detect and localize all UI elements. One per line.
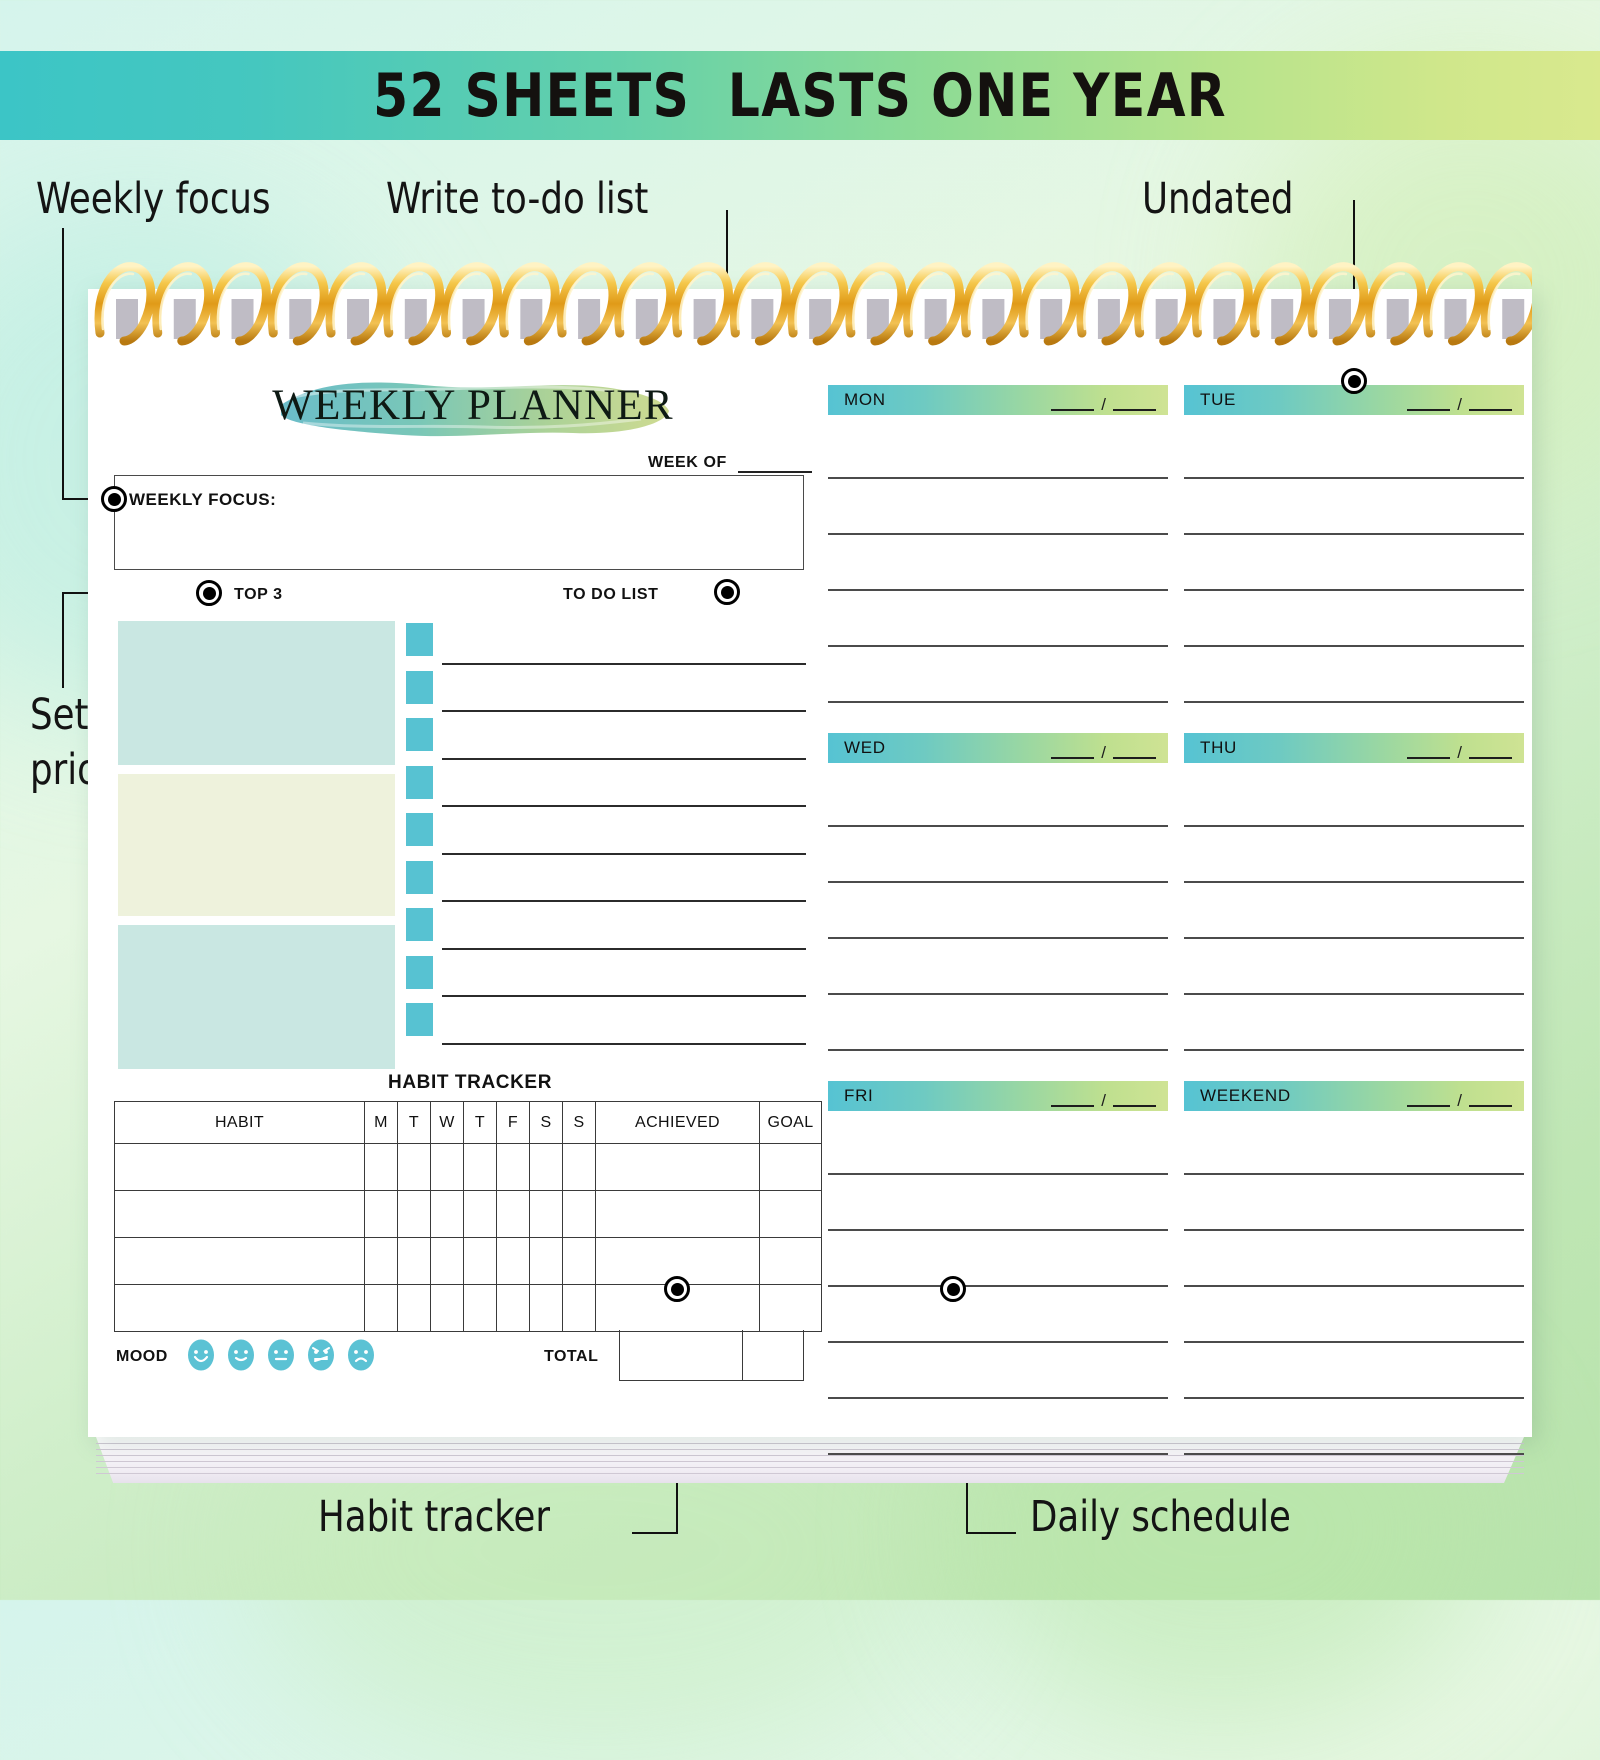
- day-write-line[interactable]: [1184, 1175, 1524, 1231]
- day-block-fri: FRI/: [828, 1081, 1168, 1455]
- habit-tracker-label: HABIT TRACKER: [388, 1072, 552, 1094]
- day-write-line[interactable]: [1184, 1399, 1524, 1455]
- day-write-line[interactable]: [1184, 591, 1524, 647]
- promo-banner: 52 SHEETS LASTS ONE YEAR: [0, 51, 1600, 140]
- habit-cell[interactable]: [398, 1285, 431, 1332]
- habit-col-header-t-2: T: [398, 1102, 431, 1144]
- todo-write-line[interactable]: [442, 805, 806, 807]
- leader-line-daily-h: [968, 1532, 1016, 1534]
- day-date-blanks[interactable]: /: [1051, 399, 1156, 411]
- day-write-line[interactable]: [1184, 827, 1524, 883]
- table-row[interactable]: [115, 1238, 822, 1285]
- habit-cell[interactable]: [365, 1285, 398, 1332]
- day-write-line[interactable]: [828, 423, 1168, 479]
- mood-label: MOOD: [116, 1348, 168, 1366]
- date-blank-day[interactable]: [1469, 1105, 1512, 1107]
- date-blank-month[interactable]: [1051, 409, 1094, 411]
- habit-cell[interactable]: [760, 1285, 822, 1332]
- habit-cell[interactable]: [115, 1285, 365, 1332]
- habit-cell[interactable]: [365, 1238, 398, 1285]
- todo-row[interactable]: [406, 714, 806, 762]
- day-write-line[interactable]: [1184, 647, 1524, 703]
- day-write-line[interactable]: [828, 771, 1168, 827]
- day-header: MON/: [828, 385, 1168, 415]
- day-date-blanks[interactable]: /: [1051, 747, 1156, 759]
- habit-cell[interactable]: [760, 1238, 822, 1285]
- priority-box-2[interactable]: [118, 774, 395, 916]
- todo-checkbox[interactable]: [406, 623, 433, 656]
- day-write-line[interactable]: [1184, 995, 1524, 1051]
- habit-col-header-m-1: M: [365, 1102, 398, 1144]
- todo-row[interactable]: [406, 619, 806, 667]
- top3-priority-boxes: [118, 621, 395, 1078]
- day-write-line[interactable]: [828, 1175, 1168, 1231]
- day-write-line[interactable]: [828, 1231, 1168, 1287]
- neutral-face-icon[interactable]: [266, 1338, 296, 1372]
- spiral-binding-icon: [88, 237, 1532, 357]
- habit-cell[interactable]: [431, 1238, 464, 1285]
- day-name-label: TUE: [1200, 390, 1236, 410]
- habit-cell[interactable]: [760, 1144, 822, 1191]
- callout-dot-weekly-focus: [101, 486, 127, 512]
- day-write-line[interactable]: [828, 1343, 1168, 1399]
- day-write-line[interactable]: [828, 479, 1168, 535]
- day-write-line[interactable]: [828, 939, 1168, 995]
- todo-write-line[interactable]: [442, 995, 806, 997]
- day-write-line[interactable]: [1184, 535, 1524, 591]
- total-achieved-cell[interactable]: [620, 1330, 743, 1380]
- habit-cell[interactable]: [497, 1238, 530, 1285]
- day-write-line[interactable]: [1184, 883, 1524, 939]
- habit-cell[interactable]: [115, 1191, 365, 1238]
- habit-cell[interactable]: [530, 1285, 563, 1332]
- day-write-line[interactable]: [1184, 1231, 1524, 1287]
- habit-cell[interactable]: [464, 1285, 497, 1332]
- banner-text: 52 SHEETS LASTS ONE YEAR: [373, 61, 1227, 131]
- day-write-line[interactable]: [1184, 1119, 1524, 1175]
- table-row[interactable]: [115, 1144, 822, 1191]
- priority-box-1[interactable]: [118, 621, 395, 765]
- habit-cell[interactable]: [497, 1285, 530, 1332]
- habit-cell[interactable]: [530, 1191, 563, 1238]
- date-blank-month[interactable]: [1407, 757, 1450, 759]
- habit-cell[interactable]: [563, 1238, 596, 1285]
- leader-line-priorities-v: [62, 592, 64, 688]
- habit-cell[interactable]: [760, 1191, 822, 1238]
- todo-checkbox[interactable]: [406, 718, 433, 751]
- day-write-line[interactable]: [828, 995, 1168, 1051]
- day-name-label: WEEKEND: [1200, 1086, 1291, 1106]
- todo-checkbox[interactable]: [406, 671, 433, 704]
- habit-cell[interactable]: [398, 1191, 431, 1238]
- todo-write-line[interactable]: [442, 663, 806, 665]
- day-lines: [828, 415, 1168, 759]
- todo-row[interactable]: [406, 667, 806, 715]
- habit-col-header-s-6: S: [530, 1102, 563, 1144]
- day-lines: [828, 1111, 1168, 1455]
- habit-cell[interactable]: [596, 1144, 760, 1191]
- day-header: WED/: [828, 733, 1168, 763]
- todo-row[interactable]: [406, 762, 806, 810]
- habit-col-header-t-4: T: [464, 1102, 497, 1144]
- date-separator: /: [1101, 1095, 1106, 1107]
- day-write-line[interactable]: [1184, 1287, 1524, 1343]
- day-write-line[interactable]: [1184, 1343, 1524, 1399]
- day-header: FRI/: [828, 1081, 1168, 1111]
- planner-content: WEEKLY PLANNER WEEK OF WEEKLY FOCUS: TOP…: [88, 289, 1532, 1437]
- habit-cell[interactable]: [431, 1285, 464, 1332]
- week-of-blank[interactable]: [738, 471, 812, 473]
- todo-list: [406, 619, 806, 1047]
- todo-checkbox[interactable]: [406, 813, 433, 846]
- day-name-label: MON: [844, 390, 886, 410]
- total-goal-cell[interactable]: [743, 1330, 803, 1380]
- top3-label: TOP 3: [234, 586, 283, 604]
- date-blank-day[interactable]: [1469, 409, 1512, 411]
- habit-col-header-w-3: W: [431, 1102, 464, 1144]
- sad-face-icon[interactable]: [346, 1338, 376, 1372]
- habit-cell[interactable]: [497, 1144, 530, 1191]
- day-write-line[interactable]: [1184, 423, 1524, 479]
- todo-write-line[interactable]: [442, 900, 806, 902]
- todo-checkbox[interactable]: [406, 956, 433, 989]
- day-lines: [1184, 415, 1524, 759]
- todo-row[interactable]: [406, 952, 806, 1000]
- mood-row: MOOD TOTAL: [114, 1330, 804, 1388]
- callout-dot-todo: [714, 579, 740, 605]
- angry-face-icon[interactable]: [306, 1338, 336, 1372]
- habit-cell[interactable]: [563, 1285, 596, 1332]
- day-write-line[interactable]: [828, 1287, 1168, 1343]
- day-header: THU/: [1184, 733, 1524, 763]
- todo-checkbox[interactable]: [406, 766, 433, 799]
- habit-col-header-f-5: F: [497, 1102, 530, 1144]
- todo-write-line[interactable]: [442, 853, 806, 855]
- habit-cell[interactable]: [398, 1144, 431, 1191]
- habit-tracker-table[interactable]: HABITMTWTFSSACHIEVEDGOAL: [114, 1101, 822, 1332]
- date-separator: /: [1101, 399, 1106, 411]
- day-block-thu: THU/: [1184, 733, 1524, 1107]
- habit-cell[interactable]: [431, 1144, 464, 1191]
- table-row[interactable]: [115, 1191, 822, 1238]
- day-write-line[interactable]: [828, 591, 1168, 647]
- todo-write-line[interactable]: [442, 948, 806, 950]
- page-title: WEEKLY PLANNER: [258, 381, 688, 430]
- todo-row[interactable]: [406, 999, 806, 1047]
- date-blank-month[interactable]: [1407, 409, 1450, 411]
- todo-write-line[interactable]: [442, 710, 806, 712]
- habit-tracker-table-wrap: HABITMTWTFSSACHIEVEDGOAL: [114, 1101, 804, 1332]
- todo-checkbox[interactable]: [406, 861, 433, 894]
- date-blank-day[interactable]: [1469, 757, 1512, 759]
- happy-face-icon[interactable]: [186, 1338, 216, 1372]
- callout-weekly-focus: Weekly focus: [36, 172, 271, 227]
- date-blank-month[interactable]: [1051, 1105, 1094, 1107]
- callout-daily-schedule: Daily schedule: [1030, 1490, 1291, 1545]
- priority-box-3[interactable]: [118, 925, 395, 1069]
- habit-col-header-s-7: S: [563, 1102, 596, 1144]
- day-lines: [1184, 763, 1524, 1107]
- habit-cell[interactable]: [431, 1191, 464, 1238]
- todo-checkbox[interactable]: [406, 908, 433, 941]
- week-of-label: WEEK OF: [648, 454, 727, 472]
- date-blank-day[interactable]: [1113, 757, 1156, 759]
- habit-cell[interactable]: [365, 1144, 398, 1191]
- day-name-label: WED: [844, 738, 886, 758]
- habit-cell[interactable]: [464, 1238, 497, 1285]
- callout-undated: Undated: [1142, 172, 1293, 227]
- habit-cell[interactable]: [115, 1144, 365, 1191]
- leader-line-habit-h: [632, 1532, 678, 1534]
- leader-line-weekly-focus-v: [62, 228, 64, 499]
- day-header: WEEKEND/: [1184, 1081, 1524, 1111]
- todo-write-line[interactable]: [442, 1043, 806, 1045]
- day-write-line[interactable]: [828, 1119, 1168, 1175]
- todo-row[interactable]: [406, 809, 806, 857]
- day-block-wed: WED/: [828, 733, 1168, 1107]
- habit-cell[interactable]: [365, 1191, 398, 1238]
- callout-dot-habit: [664, 1276, 690, 1302]
- smile-face-icon[interactable]: [226, 1338, 256, 1372]
- day-write-line[interactable]: [1184, 479, 1524, 535]
- todo-row[interactable]: [406, 857, 806, 905]
- date-blank-day[interactable]: [1113, 409, 1156, 411]
- weekly-focus-box[interactable]: WEEKLY FOCUS:: [114, 475, 804, 570]
- habit-cell[interactable]: [530, 1238, 563, 1285]
- habit-cell[interactable]: [464, 1144, 497, 1191]
- day-date-blanks[interactable]: /: [1407, 1095, 1512, 1107]
- day-block-tue: TUE/: [1184, 385, 1524, 759]
- day-write-line[interactable]: [828, 883, 1168, 939]
- day-write-line[interactable]: [828, 647, 1168, 703]
- total-cells[interactable]: [619, 1330, 804, 1381]
- day-write-line[interactable]: [828, 827, 1168, 883]
- habit-col-header-goal-9: GOAL: [760, 1102, 822, 1144]
- day-name-label: FRI: [844, 1086, 873, 1106]
- mood-icon-group[interactable]: [186, 1338, 376, 1372]
- day-block-weekend: WEEKEND/: [1184, 1081, 1524, 1455]
- date-blank-month[interactable]: [1407, 1105, 1450, 1107]
- day-write-line[interactable]: [1184, 939, 1524, 995]
- habit-col-header-achieved-8: ACHIEVED: [596, 1102, 760, 1144]
- day-write-line[interactable]: [828, 1399, 1168, 1455]
- habit-col-header-habit-0: HABIT: [115, 1102, 365, 1144]
- todo-list-label: TO DO LIST: [563, 586, 658, 604]
- callout-habit-tracker: Habit tracker: [318, 1490, 550, 1545]
- day-lines: [1184, 1111, 1524, 1455]
- day-date-blanks[interactable]: /: [1051, 1095, 1156, 1107]
- todo-checkbox[interactable]: [406, 1003, 433, 1036]
- callout-dot-daily-schedule: [940, 1276, 966, 1302]
- todo-write-line[interactable]: [442, 758, 806, 760]
- date-blank-day[interactable]: [1113, 1105, 1156, 1107]
- day-name-label: THU: [1200, 738, 1237, 758]
- day-write-line[interactable]: [1184, 771, 1524, 827]
- date-blank-month[interactable]: [1051, 757, 1094, 759]
- habit-cell[interactable]: [530, 1144, 563, 1191]
- habit-cell[interactable]: [497, 1191, 530, 1238]
- callout-write-todo: Write to-do list: [386, 172, 648, 227]
- day-write-line[interactable]: [828, 535, 1168, 591]
- date-separator: /: [1457, 1095, 1462, 1107]
- day-block-mon: MON/: [828, 385, 1168, 759]
- habit-cell[interactable]: [563, 1144, 596, 1191]
- table-header-row: HABITMTWTFSSACHIEVEDGOAL: [115, 1102, 822, 1144]
- total-label: TOTAL: [544, 1348, 598, 1366]
- table-row[interactable]: [115, 1285, 822, 1332]
- habit-cell[interactable]: [563, 1191, 596, 1238]
- date-separator: /: [1457, 399, 1462, 411]
- habit-cell[interactable]: [596, 1191, 760, 1238]
- day-date-blanks[interactable]: /: [1407, 399, 1512, 411]
- weekly-planner-notebook: WEEKLY PLANNER WEEK OF WEEKLY FOCUS: TOP…: [88, 289, 1532, 1484]
- date-separator: /: [1101, 747, 1106, 759]
- day-date-blanks[interactable]: /: [1407, 747, 1512, 759]
- callout-dot-undated: [1341, 368, 1367, 394]
- habit-cell[interactable]: [464, 1191, 497, 1238]
- date-separator: /: [1457, 747, 1462, 759]
- weekly-focus-label: WEEKLY FOCUS:: [129, 490, 276, 510]
- habit-cell[interactable]: [398, 1238, 431, 1285]
- todo-row[interactable]: [406, 904, 806, 952]
- habit-cell[interactable]: [115, 1238, 365, 1285]
- day-lines: [828, 763, 1168, 1107]
- callout-dot-top3: [196, 580, 222, 606]
